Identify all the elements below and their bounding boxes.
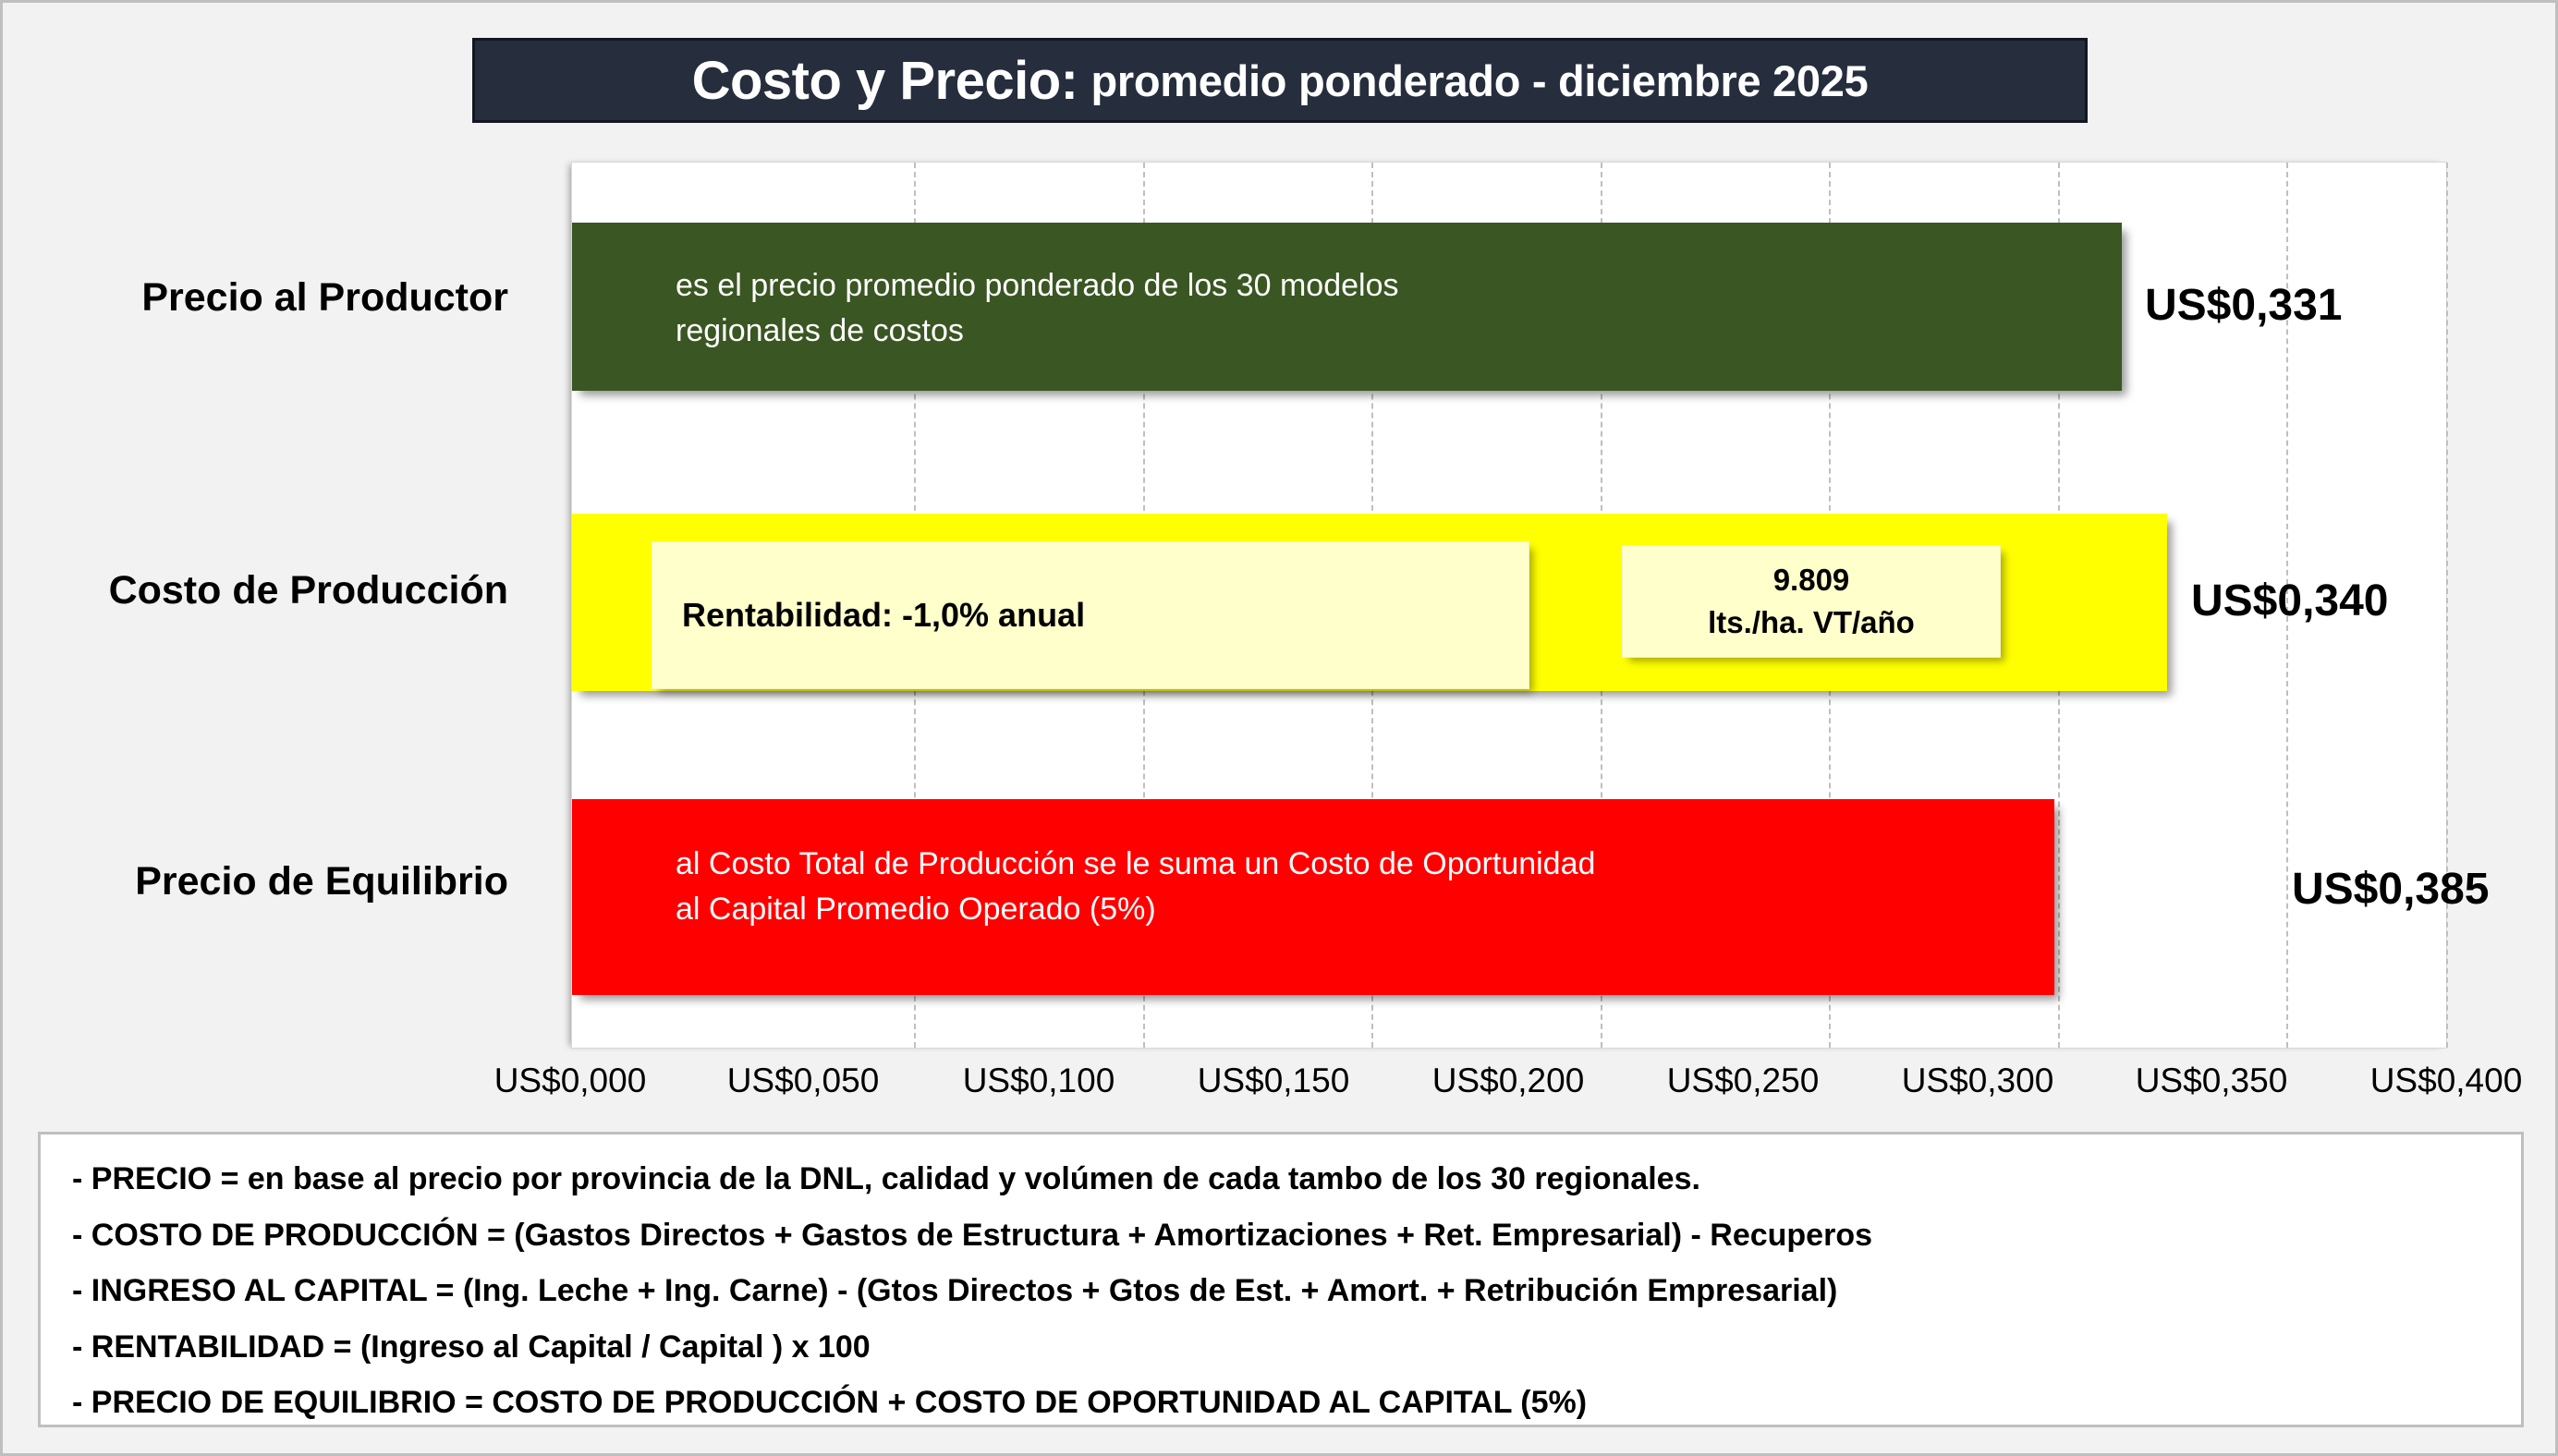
bar-annotation-line-1: al Costo Total de Producción se le suma … [676, 842, 1595, 887]
bar-annotation-line-2: al Capital Promedio Operado (5%) [676, 887, 1595, 932]
callout-rentabilidad-text: Rentabilidad: -1,0% anual [682, 596, 1085, 635]
category-label-precio-al-productor: Precio al Productor [141, 275, 508, 321]
callout-rentabilidad: Rentabilidad: -1,0% anual [652, 541, 1529, 689]
bar-annotation-line-2: regionales de costos [676, 309, 1399, 354]
footnote-ingreso-al-capital: - INGRESO AL CAPITAL = (Ing. Leche + Ing… [72, 1263, 2521, 1319]
xtick-label-8: US$0,400 [2370, 1062, 2523, 1100]
bar-annotation-line-1: es el precio promedio ponderado de los 3… [676, 263, 1399, 309]
xtick-label-6: US$0,300 [1902, 1062, 2054, 1100]
xtick-label-0: US$0,000 [494, 1062, 647, 1100]
category-label-costo-de-produccion: Costo de Producción [109, 568, 508, 613]
value-label-precio-de-equilibrio: US$0,385 [2292, 864, 2490, 915]
chart-page: Costo y Precio: promedio ponderado - dic… [0, 0, 2558, 1456]
callout-lts-value: 9.809 [1773, 559, 1850, 601]
xtick-label-7: US$0,350 [2136, 1062, 2288, 1100]
footnote-precio: - PRECIO = en base al precio por provinc… [72, 1151, 2521, 1207]
xtick-label-5: US$0,250 [1667, 1062, 1820, 1100]
bar-annotation-precio-de-equilibrio: al Costo Total de Producción se le suma … [676, 842, 1595, 933]
callout-lts-unit: lts./ha. VT/año [1708, 601, 1915, 644]
footnote-rentabilidad: - RENTABILIDAD = (Ingreso al Capital / C… [72, 1319, 2521, 1376]
bar-annotation-precio-al-productor: es el precio promedio ponderado de los 3… [676, 263, 1399, 355]
chart-title-band: Costo y Precio: promedio ponderado - dic… [472, 38, 2088, 123]
footnote-box: - PRECIO = en base al precio por provinc… [38, 1132, 2524, 1427]
category-label-precio-de-equilibrio: Precio de Equilibrio [135, 859, 508, 904]
xtick-label-2: US$0,100 [963, 1062, 1115, 1100]
chart-title-main: Costo y Precio: [692, 50, 1078, 112]
value-label-precio-al-productor: US$0,331 [2145, 280, 2343, 331]
callout-produccion-por-hectarea: 9.809 lts./ha. VT/año [1622, 545, 2001, 658]
xtick-label-3: US$0,150 [1198, 1062, 1350, 1100]
xtick-label-4: US$0,200 [1432, 1062, 1585, 1100]
footnote-costo-de-produccion: - COSTO DE PRODUCCIÓN = (Gastos Directos… [72, 1207, 2521, 1264]
gridline-0-400 [2446, 163, 2448, 1048]
xtick-label-1: US$0,050 [727, 1062, 880, 1100]
chart-title-subtitle: promedio ponderado - diciembre 2025 [1091, 55, 1869, 106]
value-label-costo-de-produccion: US$0,340 [2191, 576, 2389, 626]
footnote-precio-de-equilibrio: - PRECIO DE EQUILIBRIO = COSTO DE PRODUC… [72, 1375, 2521, 1431]
